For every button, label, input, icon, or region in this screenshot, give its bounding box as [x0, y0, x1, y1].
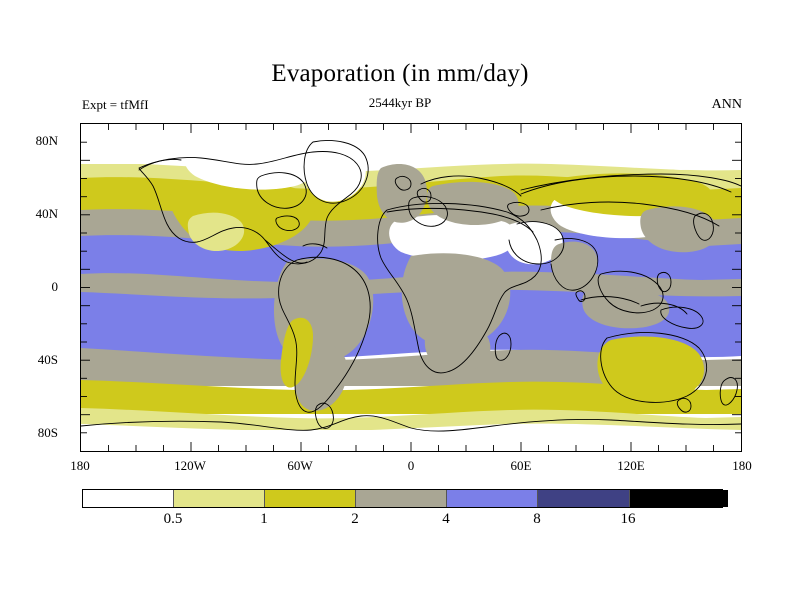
colorbar-band-3: [355, 490, 446, 507]
ytick-label-80s: 80S: [0, 425, 58, 441]
evaporation-figure: Evaporation (in mm/day) 2544kyr BP Expt …: [0, 0, 800, 600]
xtick-label-60e: 60E: [481, 458, 561, 474]
ytick-label-80n: 80N: [0, 133, 58, 149]
evaporation-map: [81, 124, 741, 451]
colorbar-band-5: [537, 490, 628, 507]
ytick-label-40n: 40N: [0, 206, 58, 222]
colorbar-label-4: 4: [416, 511, 476, 528]
season-label: ANN: [712, 97, 742, 113]
colorbar-band-6: [629, 490, 728, 507]
xtick-label-180e: 180: [702, 458, 782, 474]
colorbar-band-0: [83, 490, 173, 507]
ytick-label-40s: 40S: [0, 352, 58, 368]
ytick-label-0: 0: [0, 279, 58, 295]
chart-title: Evaporation (in mm/day): [0, 60, 800, 88]
colorbar-band-1: [173, 490, 264, 507]
colorbar-label-1: 1: [234, 511, 294, 528]
colorbar-label-8: 8: [507, 511, 567, 528]
xtick-label-120e: 120E: [591, 458, 671, 474]
colorbar-band-2: [264, 490, 355, 507]
colorbar-label-0.5: 0.5: [143, 511, 203, 528]
colorbar-label-16: 16: [598, 511, 658, 528]
colorbar-label-2: 2: [325, 511, 385, 528]
experiment-label: Expt = tfMfI: [82, 97, 149, 113]
region-north-atlantic-tongue: [377, 164, 427, 223]
xtick-label-180w: 180: [40, 458, 120, 474]
xtick-label-120w: 120W: [150, 458, 230, 474]
colorbar-band-4: [446, 490, 537, 507]
colorbar: [82, 489, 723, 508]
xtick-label-60w: 60W: [260, 458, 340, 474]
map-panel: [80, 123, 742, 452]
xtick-label-0: 0: [371, 458, 451, 474]
